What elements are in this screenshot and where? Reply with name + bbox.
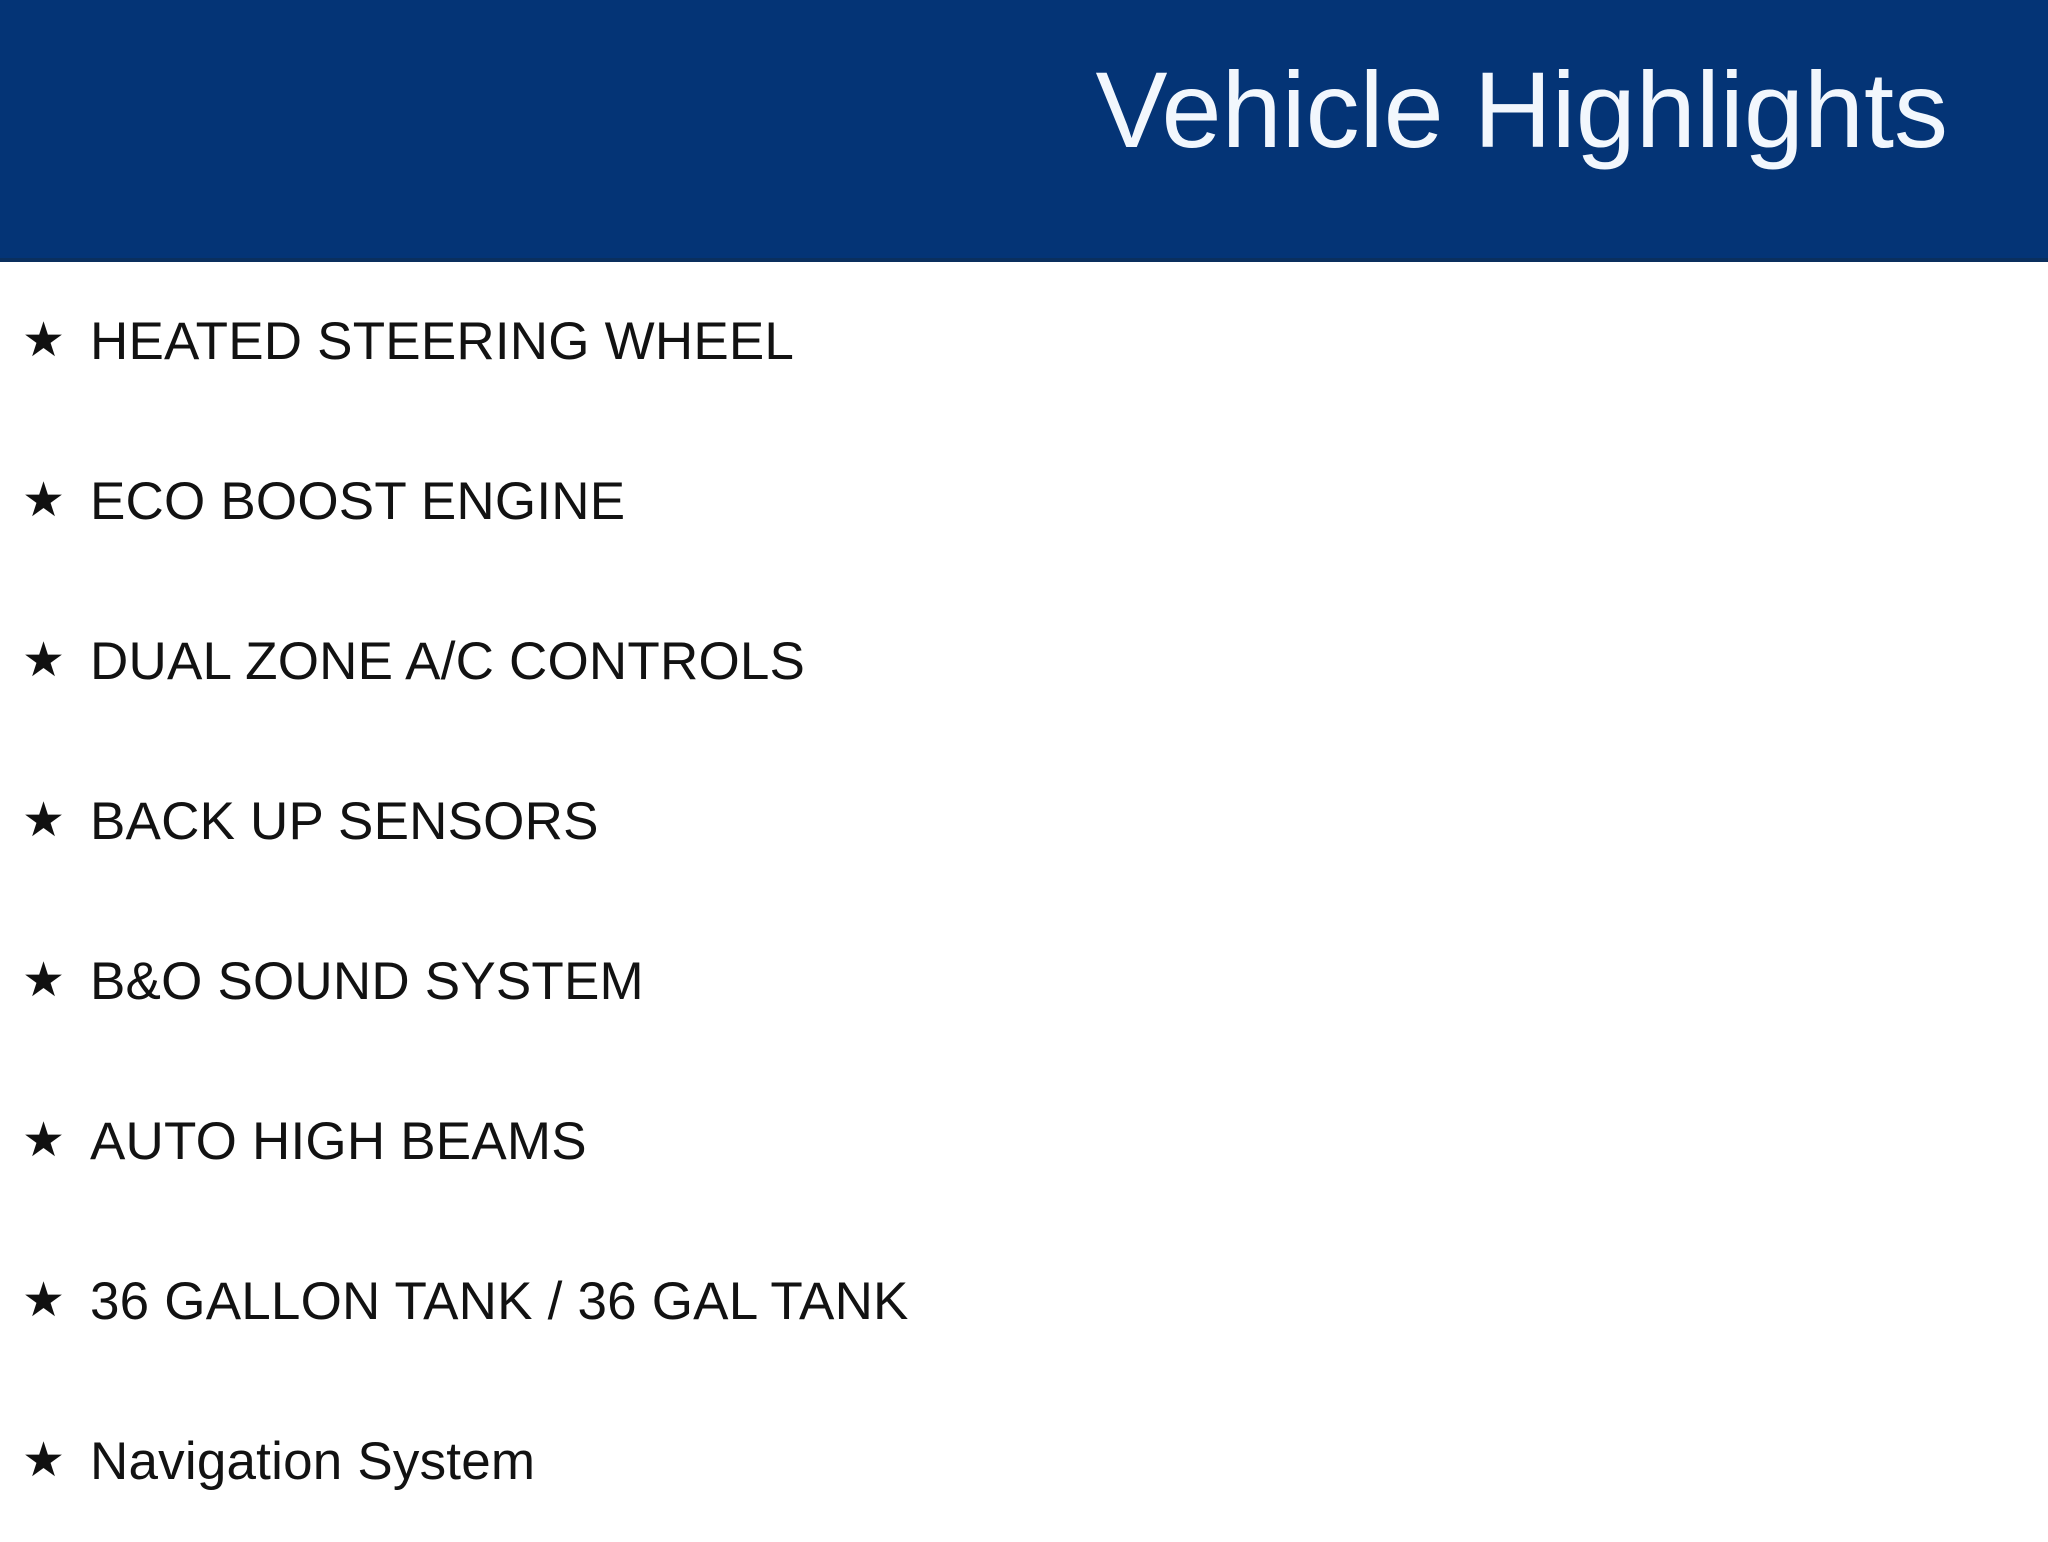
- highlight-label: Navigation System: [90, 1434, 2048, 1490]
- star-bullet-icon: ★: [22, 476, 90, 524]
- list-item: ★ 36 GALLON TANK / 36 GAL TANK: [0, 1222, 2048, 1382]
- highlight-label: ECO BOOST ENGINE: [90, 474, 2048, 530]
- star-bullet-icon: ★: [22, 1436, 90, 1484]
- list-item: ★ DUAL ZONE A/C CONTROLS: [0, 582, 2048, 742]
- vehicle-highlights-page: Vehicle Highlights ★ HEATED STEERING WHE…: [0, 0, 2048, 1536]
- star-bullet-icon: ★: [22, 636, 90, 684]
- highlight-label: AUTO HIGH BEAMS: [90, 1114, 2048, 1170]
- highlight-label: DUAL ZONE A/C CONTROLS: [90, 634, 2048, 690]
- list-item: ★ BACK UP SENSORS: [0, 742, 2048, 902]
- star-bullet-icon: ★: [22, 796, 90, 844]
- page-title: Vehicle Highlights: [1095, 56, 2048, 262]
- list-item: ★ Navigation System: [0, 1382, 2048, 1542]
- star-bullet-icon: ★: [22, 1276, 90, 1324]
- list-item: ★ AUTO HIGH BEAMS: [0, 1062, 2048, 1222]
- star-bullet-icon: ★: [22, 956, 90, 1004]
- list-item: ★ ECO BOOST ENGINE: [0, 422, 2048, 582]
- highlight-label: 36 GALLON TANK / 36 GAL TANK: [90, 1274, 2048, 1330]
- list-item: ★ B&O SOUND SYSTEM: [0, 902, 2048, 1062]
- list-item: ★ HEATED STEERING WHEEL: [0, 262, 2048, 422]
- highlight-label: B&O SOUND SYSTEM: [90, 954, 2048, 1010]
- highlight-label: HEATED STEERING WHEEL: [90, 314, 2048, 370]
- highlight-label: BACK UP SENSORS: [90, 794, 2048, 850]
- page-header: Vehicle Highlights: [0, 0, 2048, 262]
- star-bullet-icon: ★: [22, 1116, 90, 1164]
- vehicle-highlights-list: ★ HEATED STEERING WHEEL ★ ECO BOOST ENGI…: [0, 262, 2048, 1542]
- star-bullet-icon: ★: [22, 316, 90, 364]
